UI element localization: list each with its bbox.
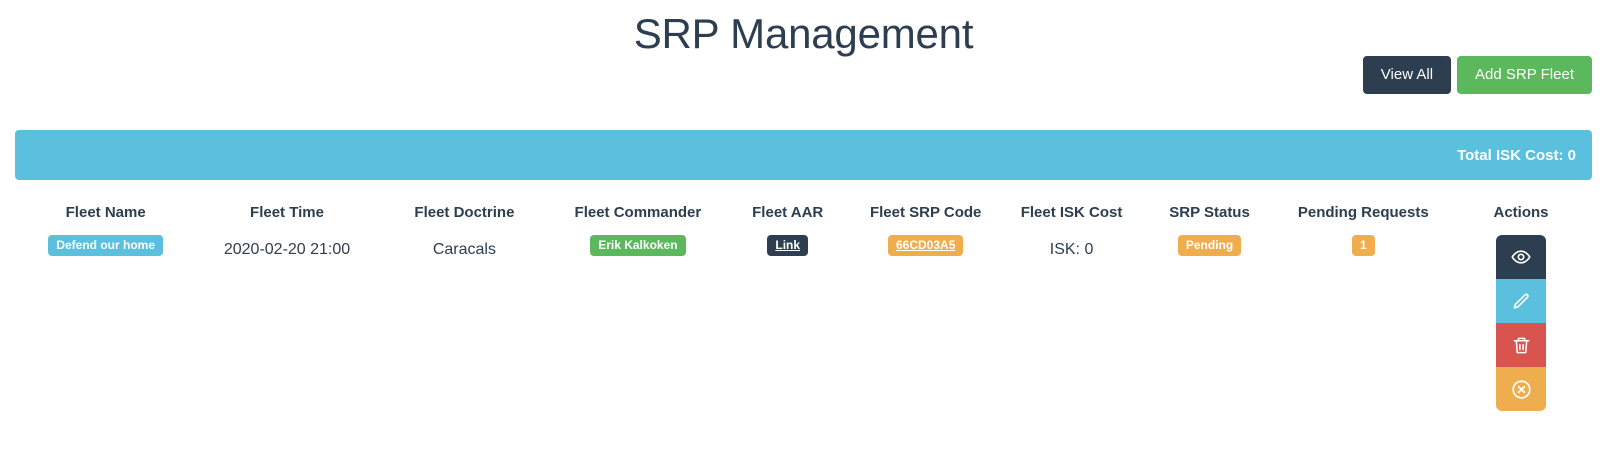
cell-fleet-commander: Erik Kalkoken xyxy=(551,231,724,415)
pencil-icon xyxy=(1512,292,1531,311)
cell-fleet-isk-cost: ISK: 0 xyxy=(1001,231,1143,415)
cell-fleet-time: 2020-02-20 21:00 xyxy=(196,231,377,415)
column-header-fleet-aar: Fleet AAR xyxy=(725,198,851,231)
srp-fleets-table: Fleet Name Fleet Time Fleet Doctrine Fle… xyxy=(15,198,1592,415)
eye-icon xyxy=(1511,247,1531,267)
column-header-pending-requests: Pending Requests xyxy=(1277,198,1450,231)
fleet-doctrine-value: Caracals xyxy=(433,235,496,259)
fleet-isk-cost-value: ISK: 0 xyxy=(1050,235,1094,259)
column-header-fleet-doctrine: Fleet Doctrine xyxy=(378,198,551,231)
add-srp-fleet-button[interactable]: Add SRP Fleet xyxy=(1457,56,1592,94)
row-action-stack xyxy=(1454,235,1588,411)
fleet-srp-code-link[interactable]: 66CD03A5 xyxy=(888,235,963,256)
cell-fleet-name: Defend our home xyxy=(15,231,196,415)
total-isk-cost-banner: Total ISK Cost: 0 xyxy=(15,130,1592,180)
total-isk-cost-text: Total ISK Cost: 0 xyxy=(1457,147,1576,164)
view-srp-fleet-button[interactable] xyxy=(1496,235,1546,279)
column-header-fleet-srp-code: Fleet SRP Code xyxy=(851,198,1001,231)
column-header-fleet-name: Fleet Name xyxy=(15,198,196,231)
edit-srp-fleet-button[interactable] xyxy=(1496,279,1546,323)
column-header-fleet-isk-cost: Fleet ISK Cost xyxy=(1001,198,1143,231)
pending-requests-badge: 1 xyxy=(1352,235,1375,256)
cell-fleet-aar: Link xyxy=(725,231,851,415)
disable-srp-fleet-button[interactable] xyxy=(1496,367,1546,411)
srp-fleets-table-wrapper: Fleet Name Fleet Time Fleet Doctrine Fle… xyxy=(15,198,1592,415)
fleet-commander-badge: Erik Kalkoken xyxy=(590,235,685,256)
cell-pending-requests: 1 xyxy=(1277,231,1450,415)
fleet-time-value: 2020-02-20 21:00 xyxy=(224,235,350,259)
trash-icon xyxy=(1512,336,1531,355)
cell-fleet-srp-code: 66CD03A5 xyxy=(851,231,1001,415)
table-header-row: Fleet Name Fleet Time Fleet Doctrine Fle… xyxy=(15,198,1592,231)
cell-fleet-doctrine: Caracals xyxy=(378,231,551,415)
fleet-name-badge[interactable]: Defend our home xyxy=(48,235,163,256)
column-header-actions: Actions xyxy=(1450,198,1592,231)
srp-management-page: SRP Management View All Add SRP Fleet To… xyxy=(0,0,1607,466)
view-all-button[interactable]: View All xyxy=(1363,56,1451,94)
column-header-fleet-time: Fleet Time xyxy=(196,198,377,231)
column-header-srp-status: SRP Status xyxy=(1143,198,1277,231)
cell-actions xyxy=(1450,231,1592,415)
top-action-bar: View All Add SRP Fleet xyxy=(1363,56,1592,94)
delete-srp-fleet-button[interactable] xyxy=(1496,323,1546,367)
table-head: Fleet Name Fleet Time Fleet Doctrine Fle… xyxy=(15,198,1592,231)
fleet-aar-link[interactable]: Link xyxy=(767,235,808,256)
column-header-fleet-commander: Fleet Commander xyxy=(551,198,724,231)
table-row: Defend our home 2020-02-20 21:00 Caracal… xyxy=(15,231,1592,415)
table-body: Defend our home 2020-02-20 21:00 Caracal… xyxy=(15,231,1592,415)
page-title: SRP Management xyxy=(0,0,1607,61)
circle-x-icon xyxy=(1511,379,1532,400)
srp-status-badge: Pending xyxy=(1178,235,1241,256)
cell-srp-status: Pending xyxy=(1143,231,1277,415)
